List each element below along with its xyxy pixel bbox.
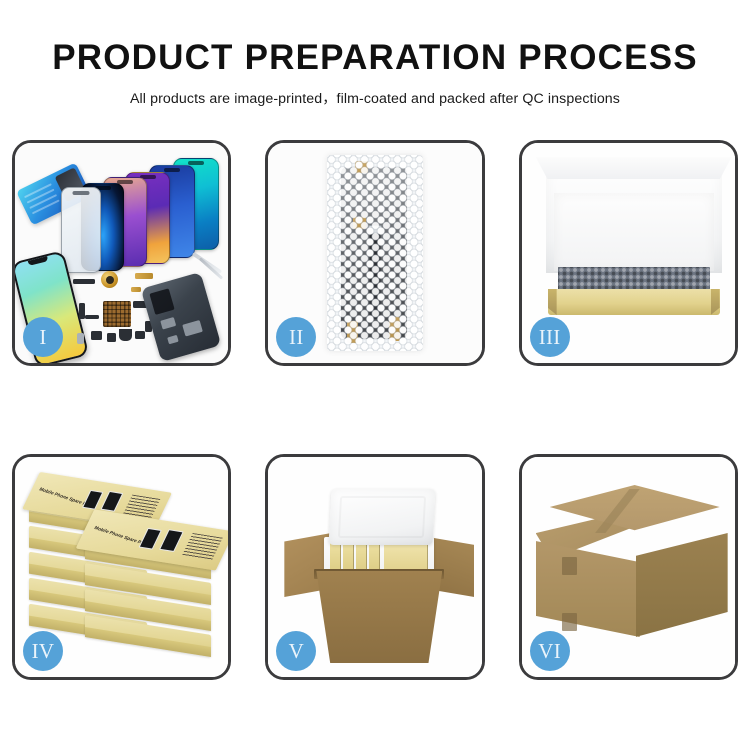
screen-glass-icon — [61, 187, 101, 273]
step-numeral-4: IV — [32, 641, 55, 662]
spare-part-icon — [73, 279, 95, 284]
step-badge-4: IV — [23, 631, 63, 671]
foam-lid-icon — [329, 489, 436, 545]
carton-left-face — [536, 541, 640, 637]
sim-tray-icon — [77, 333, 84, 344]
process-step-panel-4[interactable]: Mobile Phone Spare Parts Mobile Phone Sp… — [12, 454, 231, 680]
step-numeral-1: I — [39, 327, 46, 348]
chip-array-icon — [103, 301, 131, 327]
spare-part-icon — [85, 315, 99, 319]
process-step-panel-6[interactable]: VI — [519, 454, 738, 680]
carton-body — [316, 571, 442, 663]
box-product-image — [159, 529, 184, 552]
box-product-image — [82, 490, 103, 510]
spare-part-icon — [135, 331, 145, 339]
step-numeral-6: VI — [538, 641, 561, 662]
process-step-panel-2[interactable]: II — [265, 140, 484, 366]
spare-part-icon — [91, 331, 102, 340]
spare-part-icon — [119, 329, 132, 341]
step-badge-1: I — [23, 317, 63, 357]
foam-sheet-icon — [554, 193, 714, 271]
box-product-image — [100, 491, 123, 512]
bubble-padding-icon — [558, 267, 710, 291]
step-badge-6: VI — [530, 631, 570, 671]
flex-cable-icon — [135, 273, 153, 279]
open-carton-icon — [284, 483, 474, 663]
step-numeral-2: II — [289, 327, 304, 348]
box-product-image — [139, 528, 162, 550]
process-step-panel-1[interactable]: I — [12, 140, 231, 366]
process-step-panel-5[interactable]: V — [265, 454, 484, 680]
step-numeral-3: III — [539, 327, 561, 348]
bubble-wrap-bag-icon — [327, 155, 423, 351]
process-step-panel-3[interactable]: III — [519, 140, 738, 366]
process-step-grid: I II — [12, 140, 738, 680]
speaker-module-icon — [101, 271, 118, 288]
sealed-carton-icon — [536, 485, 728, 655]
carton-tape — [562, 613, 577, 631]
spare-part-icon — [107, 333, 116, 342]
flex-cable-icon — [131, 287, 141, 292]
carton-right-face — [636, 533, 728, 637]
step-numeral-5: V — [289, 641, 304, 662]
page-title: PRODUCT PREPARATION PROCESS — [0, 40, 750, 77]
yellow-box-front-icon — [548, 289, 720, 315]
product-preparation-process-page: PRODUCT PREPARATION PROCESS All products… — [0, 0, 750, 750]
step-badge-3: III — [530, 317, 570, 357]
page-header: PRODUCT PREPARATION PROCESS All products… — [0, 40, 750, 108]
page-subtitle: All products are image-printed，film-coat… — [0, 88, 750, 108]
box-stack-icon: Mobile Phone Spare Parts Mobile Phone Sp… — [27, 473, 225, 663]
carton-tape — [562, 557, 577, 575]
box-spec-text — [182, 533, 223, 560]
